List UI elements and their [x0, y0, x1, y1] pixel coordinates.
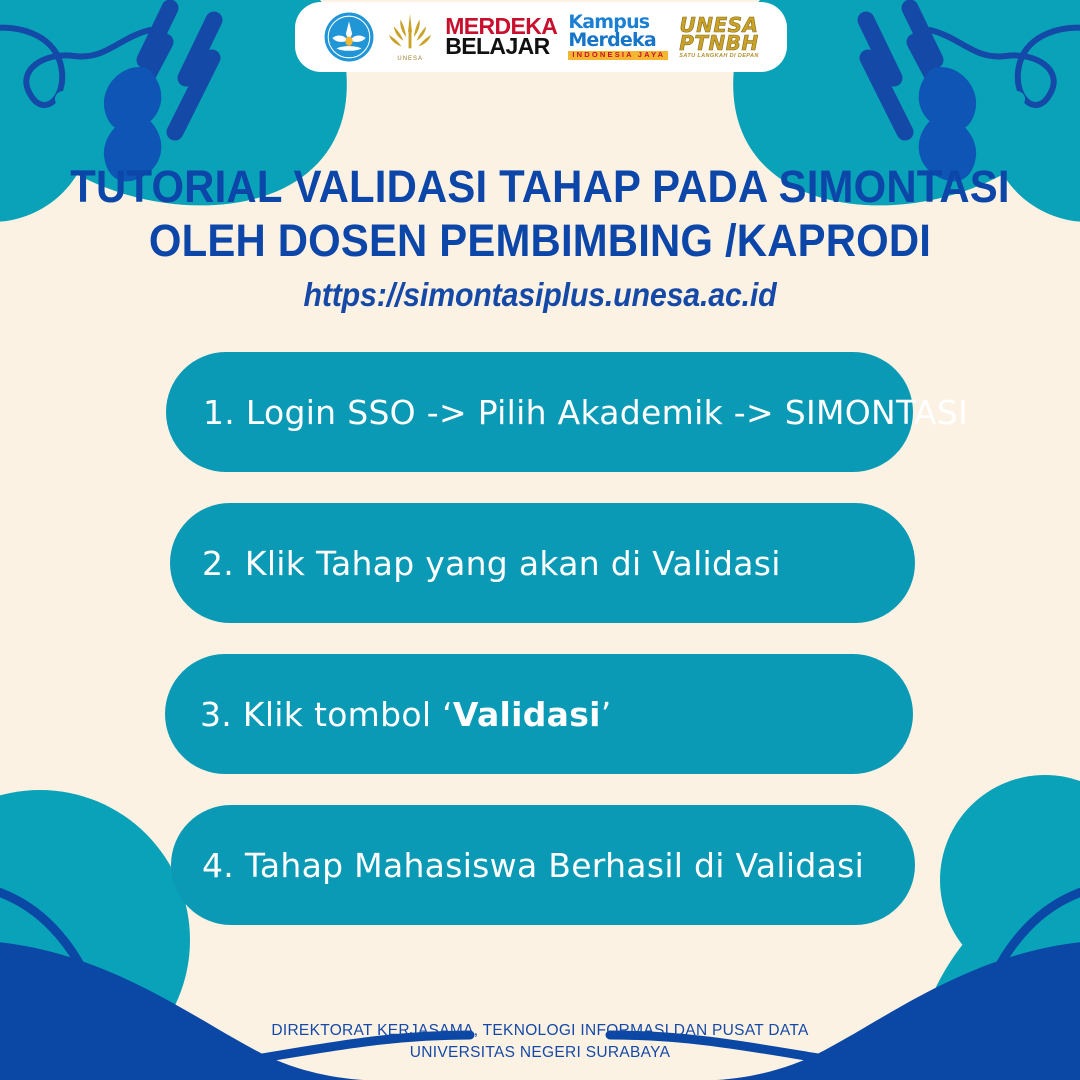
footer-line-2: UNIVERSITAS NEGERI SURABAYA [0, 1042, 1080, 1064]
step-card-3-prefix: 3. Klik tombol ‘ [200, 695, 453, 734]
kampus-merdeka-tagline: INDONESIA JAYA [568, 51, 668, 60]
step-card-2[interactable]: 2. Klik Tahap yang akan di Validasi [170, 503, 915, 623]
kampus-merdeka-line2: Merdeka [568, 32, 656, 49]
title-line-1: TUTORIAL VALIDASI TAHAP PADA SIMONTASI [38, 160, 1042, 214]
logo-bar: UNESA MERDEKA BELAJAR Kampus Merdeka IND… [295, 2, 787, 72]
top-right-squiggle [930, 28, 1080, 105]
step-card-3[interactable]: 3. Klik tombol ‘Validasi’ [165, 654, 913, 774]
merdeka-belajar-line2: BELAJAR [445, 37, 549, 57]
step-card-2-label: 2. Klik Tahap yang akan di Validasi [170, 544, 781, 583]
step-list: 1. Login SSO -> Pilih Akademik -> SIMONT… [0, 352, 1080, 956]
step-card-4[interactable]: 4. Tahap Mahasiswa Berhasil di Validasi [171, 805, 915, 925]
unesa-logo: UNESA [386, 8, 434, 66]
top-left-dots [41, 91, 86, 149]
kemendikbud-tutwuri-logo [323, 8, 375, 66]
top-right-dashes [866, 8, 952, 132]
unesa-ptnbh-tagline: SATU LANGKAH DI DEPAN [679, 54, 758, 59]
unesa-logo-caption: UNESA [397, 56, 423, 62]
top-left-dashes [128, 8, 214, 132]
top-left-squiggle [0, 28, 150, 105]
step-card-1[interactable]: 1. Login SSO -> Pilih Akademik -> SIMONT… [166, 352, 913, 472]
step-card-3-emphasis: Validasi [453, 695, 601, 734]
footer: DIREKTORAT KERJASAMA, TEKNOLOGI INFORMAS… [0, 1020, 1080, 1065]
top-right-leaf-upper [919, 67, 976, 131]
title-line-2: OLEH DOSEN PEMBIMBING /KAPRODI [38, 214, 1042, 268]
site-url[interactable]: https://simontasiplus.unesa.ac.id [43, 276, 1037, 314]
kampus-merdeka-logo: Kampus Merdeka INDONESIA JAYA [568, 8, 668, 66]
footer-line-1: DIREKTORAT KERJASAMA, TEKNOLOGI INFORMAS… [0, 1020, 1080, 1042]
infographic-poster: UNESA MERDEKA BELAJAR Kampus Merdeka IND… [0, 0, 1080, 1080]
step-card-4-label: 4. Tahap Mahasiswa Berhasil di Validasi [171, 846, 864, 885]
unesa-ptnbh-logo: UNESA PTNBH SATU LANGKAH DI DEPAN [679, 8, 759, 66]
merdeka-belajar-logo: MERDEKA BELAJAR [445, 8, 557, 66]
step-card-3-suffix: ’ [601, 695, 612, 734]
top-left-leaf-upper [104, 67, 161, 131]
page-title: TUTORIAL VALIDASI TAHAP PADA SIMONTASI O… [0, 160, 1080, 314]
step-card-3-label: 3. Klik tombol ‘Validasi’ [165, 695, 612, 734]
step-card-1-label: 1. Login SSO -> Pilih Akademik -> SIMONT… [166, 393, 968, 432]
unesa-ptnbh-line2: PTNBH [679, 34, 759, 52]
top-right-dots [994, 91, 1039, 149]
